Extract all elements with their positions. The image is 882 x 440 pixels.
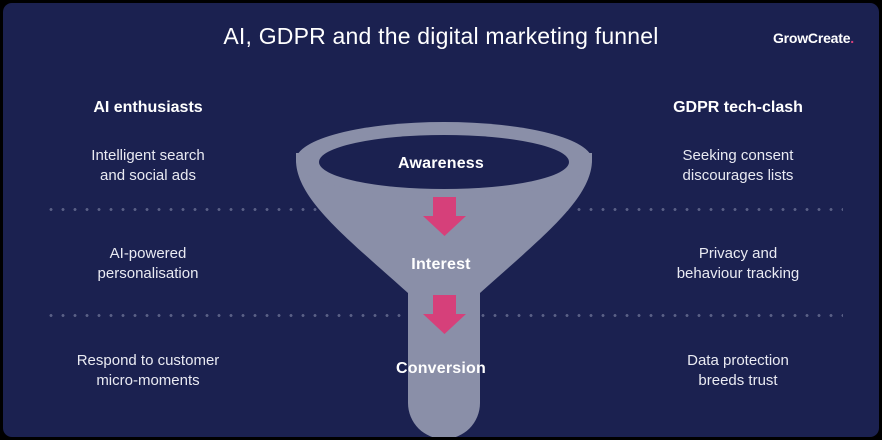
funnel-stage-interest: Interest [291, 256, 591, 274]
funnel-graphic: Awareness Interest Conversion [3, 3, 879, 437]
funnel-stage-awareness: Awareness [291, 155, 591, 173]
funnel-stage-conversion: Conversion [291, 360, 591, 378]
infographic-panel: AI, GDPR and the digital marketing funne… [3, 3, 879, 437]
